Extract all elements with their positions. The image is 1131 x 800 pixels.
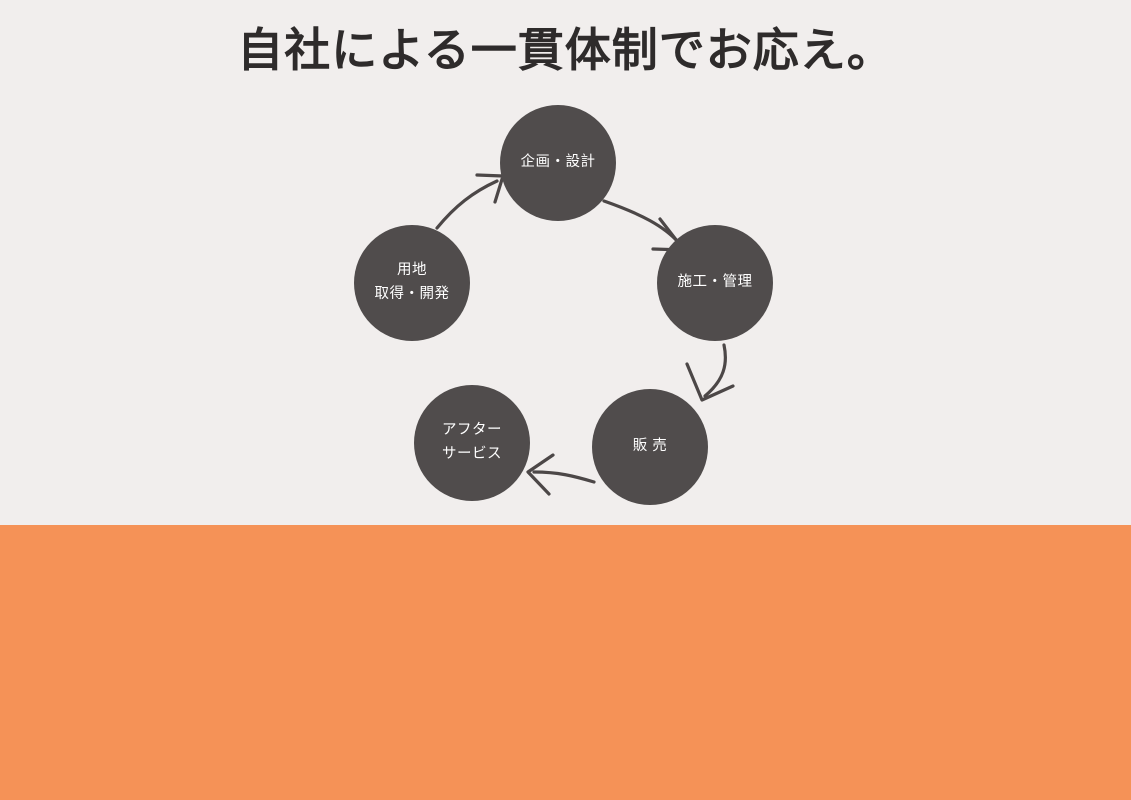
node-planning-label: 企画・設計 bbox=[521, 151, 596, 175]
node-construction-label: 施工・管理 bbox=[678, 271, 753, 295]
node-after-service-label-line1: アフター bbox=[442, 419, 502, 443]
arrow-land-to-planning bbox=[437, 175, 503, 228]
node-planning[interactable]: 企画・設計 bbox=[500, 105, 616, 221]
node-after-service-label-line2: サービス bbox=[442, 443, 502, 467]
node-construction[interactable]: 施工・管理 bbox=[657, 225, 773, 341]
orange-band: 住まいは、日常生活を過ごす上でなくてはならないものです。 買っていただいた後も安… bbox=[0, 525, 1131, 800]
node-land-acquisition[interactable]: 用地 取得・開発 bbox=[354, 225, 470, 341]
arrow-sales-to-after-service bbox=[528, 455, 594, 494]
node-sales-label: 販 売 bbox=[633, 435, 668, 459]
arrow-construction-to-sales bbox=[687, 345, 733, 400]
node-land-label-line1: 用地 bbox=[397, 259, 427, 283]
slide-root: 自社による一貫体制でお応え。 bbox=[0, 0, 1131, 800]
cycle-diagram: 企画・設計 施工・管理 販 売 アフター サービス 用地 取得・開発 bbox=[0, 0, 1131, 525]
node-after-service[interactable]: アフター サービス bbox=[414, 385, 530, 501]
node-sales[interactable]: 販 売 bbox=[592, 389, 708, 505]
node-land-label-line2: 取得・開発 bbox=[375, 283, 450, 307]
arrow-layer bbox=[0, 0, 1131, 525]
